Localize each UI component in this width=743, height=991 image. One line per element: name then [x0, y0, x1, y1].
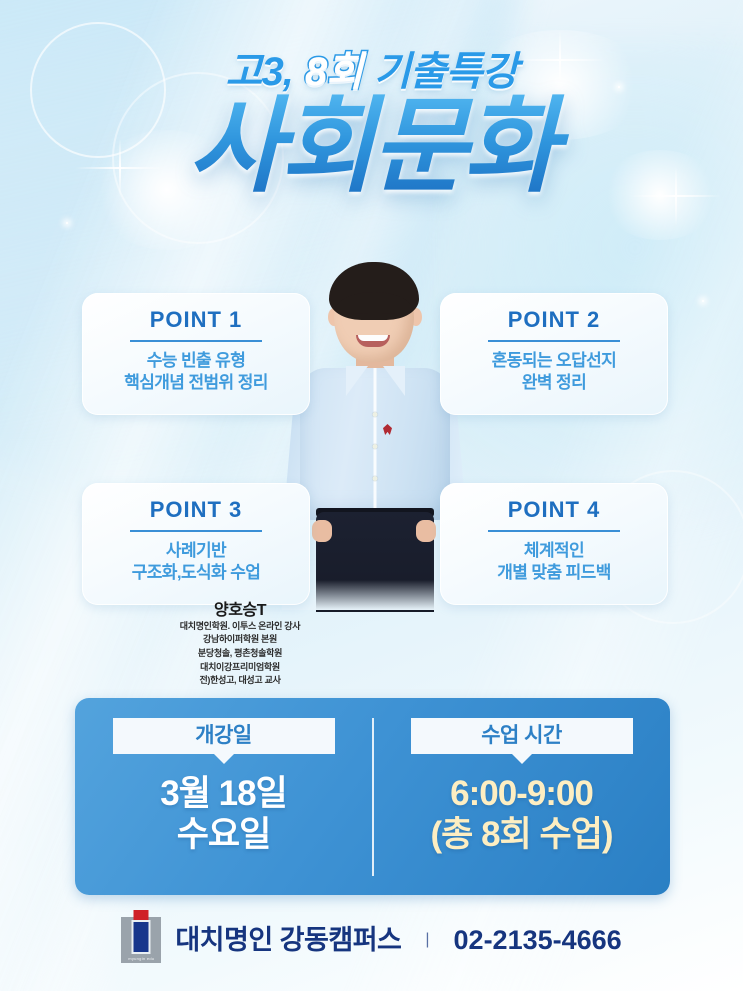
sparkle-dot-4 [66, 222, 68, 224]
sparkle-dot-5 [702, 300, 704, 302]
class-time-value: 6:00-9:00 (총 8회 수업) [373, 774, 670, 855]
instructor-name: 양호승T [30, 602, 450, 620]
point-card-3-line1: 사례기반 [92, 540, 300, 562]
point-card-4: POINT 4 체계적인 개별 맞춤 피드백 [440, 483, 668, 605]
point-card-4-title: POINT 4 [450, 499, 658, 521]
instructor-credit-3: 분당청솔, 평촌청솔학원 [30, 647, 450, 661]
start-date-line2: 수요일 [75, 815, 372, 856]
schedule-info-box: 개강일 3월 18일 수요일 수업 시간 6:00-9:00 (총 8회 수업) [75, 698, 670, 895]
shirt-button-1 [373, 412, 378, 417]
poster-footer: myungin edu 대치명인 강동캠퍼스 | 02-2135-4666 [0, 905, 743, 975]
kicker-line: 고3, 8회 기출특강 [0, 52, 743, 92]
point-card-2-line1: 혼동되는 오답선지 [450, 350, 658, 372]
point-card-2-rule [488, 340, 620, 342]
point-card-1: POINT 1 수능 빈출 유형 핵심개념 전범위 정리 [82, 293, 310, 415]
point-card-1-line2: 핵심개념 전범위 정리 [92, 372, 300, 394]
point-card-3: POINT 3 사례기반 구조화,도식화 수업 [82, 483, 310, 605]
point-card-1-title: POINT 1 [92, 309, 300, 331]
point-card-2-title: POINT 2 [450, 309, 658, 331]
start-date-line1: 3월 18일 [75, 774, 372, 815]
kicker-post: 기출특강 [374, 52, 517, 92]
point-card-3-rule [130, 530, 262, 532]
start-date-badge: 개강일 [113, 718, 335, 754]
logo-blue-block [134, 922, 149, 952]
point-card-1-rule [130, 340, 262, 342]
point-card-3-title: POINT 3 [92, 499, 300, 521]
class-time-badge: 수업 시간 [411, 718, 633, 754]
instructor-credit-4: 대치이강프리미엄학원 [30, 661, 450, 675]
hand-right [416, 520, 436, 542]
class-time-column: 수업 시간 6:00-9:00 (총 8회 수업) [373, 698, 670, 895]
instructor-credit-5: 전)한성고, 대성고 교사 [30, 674, 450, 688]
point-card-1-line1: 수능 빈출 유형 [92, 350, 300, 372]
contact-phone[interactable]: 02-2135-4666 [454, 927, 622, 954]
class-time-line1: 6:00-9:00 [373, 774, 670, 815]
start-date-column: 개강일 3월 18일 수요일 [75, 698, 372, 895]
promo-poster: 고3, 8회 기출특강 사회문화 [0, 0, 743, 991]
point-card-3-line2: 구조화,도식화 수업 [92, 562, 300, 584]
collar-right [383, 366, 405, 396]
instructor-credits: 양호승T 대치명인학원. 이투스 온라인 강사 강남하이퍼학원 본원 분당청솔,… [30, 602, 450, 688]
logo-caption: myungin edu [121, 956, 161, 961]
kicker-highlight: 8회 [305, 52, 362, 92]
point-card-4-line2: 개별 맞춤 피드백 [450, 562, 658, 584]
kicker-pre: 고3, [226, 52, 293, 92]
page-title: 사회문화 [0, 94, 743, 200]
poster-headline: 고3, 8회 기출특강 사회문화 [0, 52, 743, 200]
instructor-credit-2: 강남하이퍼학원 본원 [30, 633, 450, 647]
hair [329, 262, 419, 320]
start-date-value: 3월 18일 수요일 [75, 774, 372, 855]
point-card-2: POINT 2 혼동되는 오답선지 완벽 정리 [440, 293, 668, 415]
campus-name: 대치명인 강동캠퍼스 [175, 927, 401, 954]
shirt-button-2 [373, 444, 378, 449]
shirt-button-3 [373, 476, 378, 481]
class-time-line2: (총 8회 수업) [373, 815, 670, 856]
hand-left [312, 520, 332, 542]
collar-left [346, 366, 368, 396]
point-card-2-line2: 완벽 정리 [450, 372, 658, 394]
instructor-credit-1: 대치명인학원. 이투스 온라인 강사 [30, 620, 450, 634]
dress-shirt [300, 368, 450, 520]
point-card-4-line1: 체계적인 [450, 540, 658, 562]
point-card-4-rule [488, 530, 620, 532]
footer-separator: | [425, 931, 429, 949]
myungin-logo-icon: myungin edu [121, 917, 161, 963]
